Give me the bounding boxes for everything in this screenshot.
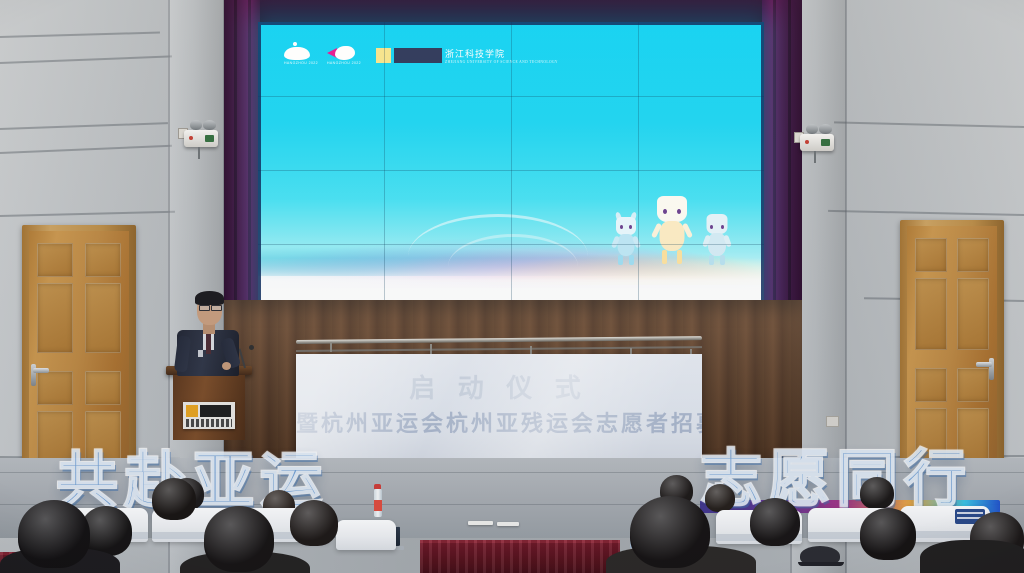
led-video-wall: HANGZHOU 2022 HANGZHOU 2022 浙江科技学院 ZHEJI… xyxy=(258,22,764,317)
auditorium-scene: HANGZHOU 2022 HANGZHOU 2022 浙江科技学院 ZHEJI… xyxy=(0,0,1024,573)
presenter-hair xyxy=(195,291,224,305)
water-bottle-label xyxy=(374,500,382,511)
audience-head xyxy=(705,484,735,512)
water-bottle-cap xyxy=(374,484,381,489)
audience-head-front xyxy=(18,500,90,568)
speaker-podium xyxy=(166,366,252,440)
front-table xyxy=(420,540,620,573)
audience-cap-brim xyxy=(798,562,844,566)
papers-on-stage xyxy=(497,522,519,526)
audience-head xyxy=(290,500,338,546)
presenter-eyeglasses xyxy=(211,305,222,311)
audience-head xyxy=(860,477,894,509)
stage-banner: 启 动 仪 式 暨杭州亚运会杭州亚残运会志愿者招募启动仪式 xyxy=(296,354,702,458)
wall-socket-right xyxy=(826,416,839,427)
wall-mounted-speaker-right xyxy=(794,122,842,162)
overlay-text-right: 志愿同行 xyxy=(700,428,972,518)
door-handle-right[interactable] xyxy=(976,362,992,367)
door-handle-left[interactable] xyxy=(33,368,49,373)
audience-shoulders xyxy=(920,540,1024,573)
microphone-head-icon xyxy=(249,345,254,350)
podium-logo-plate xyxy=(183,402,235,429)
presenter-tie xyxy=(206,332,211,354)
wall-mounted-speaker-left xyxy=(178,118,226,158)
audience-head xyxy=(750,498,800,546)
audience-head-front xyxy=(630,496,710,568)
presenter-eyeglasses xyxy=(199,305,210,311)
audience-head-front xyxy=(204,506,274,572)
presenter-badge xyxy=(198,350,203,357)
audience-head xyxy=(152,478,196,520)
presenter-hand xyxy=(222,362,231,370)
chair-cover xyxy=(336,520,396,550)
audience-head xyxy=(860,508,916,560)
papers-on-stage xyxy=(468,521,493,525)
